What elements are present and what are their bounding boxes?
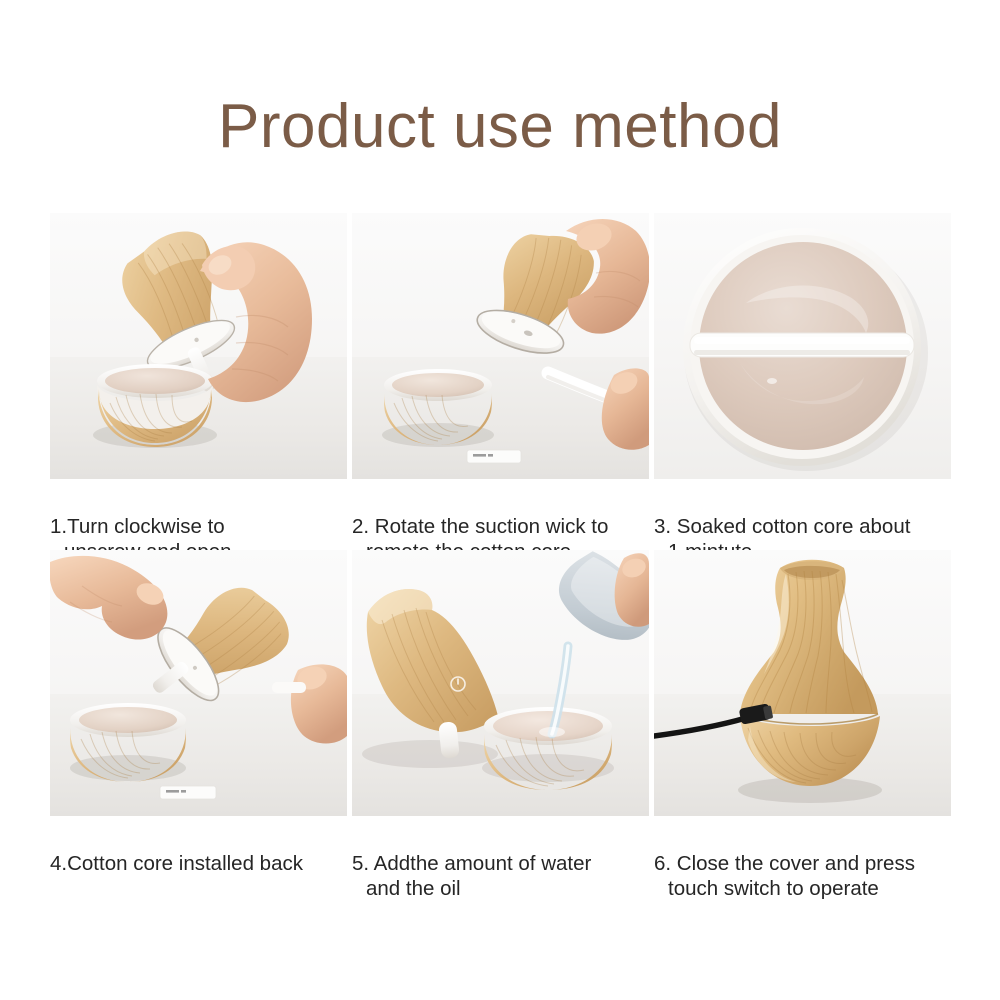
step-1-photo	[50, 213, 347, 479]
step-5-illustration	[352, 550, 649, 816]
step-6-caption: 6. Close the cover and press touch switc…	[654, 826, 951, 884]
usb-cable	[654, 718, 746, 736]
step-item-6: 6. Close the cover and press touch switc…	[654, 550, 951, 884]
step-4-caption-line1: 4.Cotton core installed back	[50, 852, 303, 875]
step-1-illustration	[50, 213, 347, 479]
step-5-caption: 5. Addthe amount of water and the oil	[352, 826, 649, 884]
step-5-photo	[352, 550, 649, 816]
step-5-caption-line1: 5. Addthe amount of water	[352, 852, 591, 875]
step-3-caption-line1: 3. Soaked cotton core about	[654, 515, 910, 538]
step-item-2: 2. Rotate the suction wick to remote the…	[352, 213, 649, 547]
step-4-illustration	[50, 550, 347, 816]
step-2-caption-line1: 2. Rotate the suction wick to	[352, 515, 608, 538]
step-item-4: 4.Cotton core installed back	[50, 550, 347, 884]
step-5-caption-line2: and the oil	[352, 876, 649, 901]
steps-grid: 1.Turn clockwise to unscrew and open	[50, 213, 950, 884]
step-3-caption: 3. Soaked cotton core about 1 mintute	[654, 489, 951, 547]
step-item-1: 1.Turn clockwise to unscrew and open	[50, 213, 347, 547]
step-2-illustration	[352, 213, 649, 479]
step-6-photo	[654, 550, 951, 816]
step-1-caption: 1.Turn clockwise to unscrew and open	[50, 489, 347, 547]
step-6-caption-line2: touch switch to operate	[654, 876, 951, 901]
step-6-illustration	[654, 550, 951, 816]
step-6-caption-line1: 6. Close the cover and press	[654, 852, 915, 875]
step-3-photo	[654, 213, 951, 479]
step-2-caption: 2. Rotate the suction wick to remote the…	[352, 489, 649, 547]
step-1-caption-line1: 1.Turn clockwise to	[50, 515, 225, 538]
step-item-5: 5. Addthe amount of water and the oil	[352, 550, 649, 884]
step-3-illustration	[654, 213, 951, 479]
step-item-3: 3. Soaked cotton core about 1 mintute	[654, 213, 951, 547]
step-2-photo	[352, 213, 649, 479]
step-4-caption: 4.Cotton core installed back	[50, 826, 347, 884]
step-4-photo	[50, 550, 347, 816]
page-title: Product use method	[0, 96, 1000, 158]
